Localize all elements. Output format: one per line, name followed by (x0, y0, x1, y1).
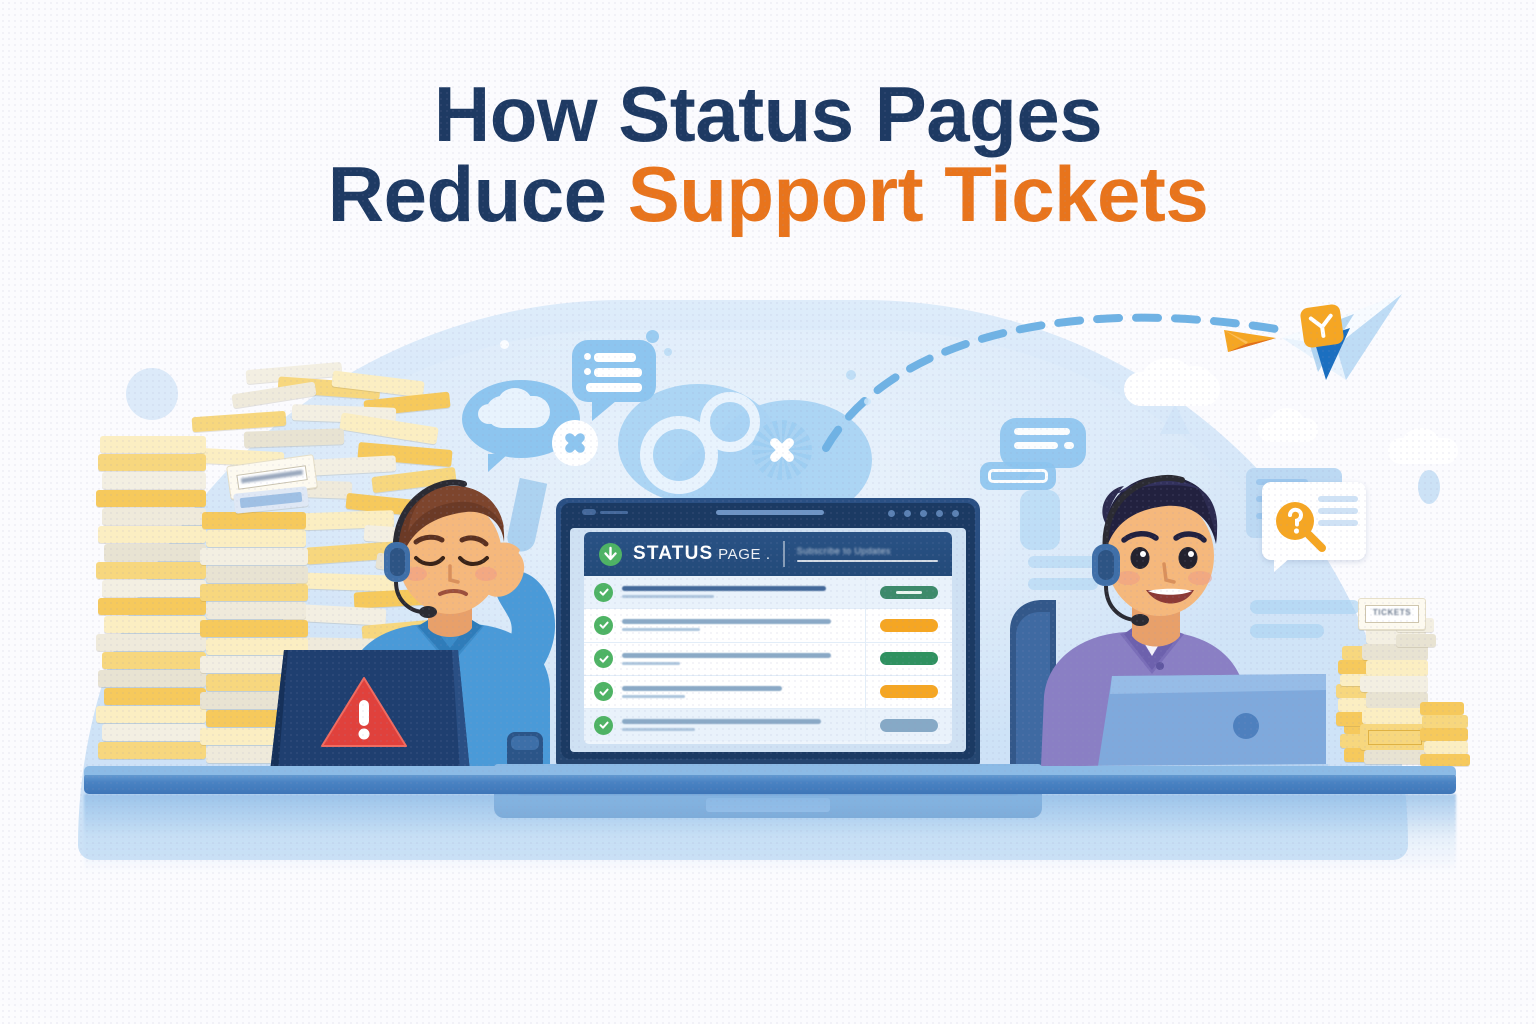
laptop-screen: STATUS PAGE . Subscribe to Updates (570, 528, 966, 752)
check-circle-icon (594, 682, 613, 701)
page-title: How Status Pages Reduce Support Tickets (0, 74, 1536, 235)
status-row-badge-cell (865, 676, 952, 708)
error-x-circle (552, 420, 598, 466)
status-badge (880, 652, 938, 665)
status-page-body (584, 576, 952, 744)
warning-triangle-icon (318, 672, 410, 752)
title-line-2-navy: Reduce (328, 150, 628, 238)
header-underline (797, 560, 938, 562)
cloud-icon-2b (1402, 428, 1440, 460)
title-line-2: Reduce Support Tickets (0, 154, 1536, 234)
status-row-text (622, 619, 865, 631)
title-line-2-orange: Support Tickets (628, 150, 1209, 238)
brand-light: PAGE . (713, 546, 770, 563)
header-divider (783, 541, 785, 567)
check-circle-icon (594, 716, 613, 735)
illustration-canvas: TICKETS (0, 0, 1536, 1024)
tickets-label-text: TICKETS (1369, 608, 1415, 617)
title-line-1: How Status Pages (0, 74, 1536, 154)
tickets-label-box: TICKETS (1358, 598, 1426, 630)
message-list-bubble (572, 340, 656, 402)
x-icon-gear-cloud (760, 428, 804, 472)
status-page-header: STATUS PAGE . Subscribe to Updates (584, 532, 952, 576)
status-row[interactable] (584, 576, 952, 609)
desk-edge-top (84, 766, 1456, 775)
desk-reflection (84, 794, 1456, 872)
status-row-text (622, 719, 865, 731)
paper-plane-icon-small (1222, 318, 1280, 364)
status-badge (880, 586, 938, 599)
status-row[interactable] (584, 609, 952, 642)
gear-icon-small (700, 392, 760, 452)
status-page-brand: STATUS PAGE . (633, 543, 771, 565)
check-circle-icon (594, 583, 613, 602)
download-circle-icon (598, 542, 623, 567)
ticket-stack-right: TICKETS (1336, 584, 1486, 774)
status-row-text (622, 653, 865, 665)
status-badge (880, 719, 938, 732)
status-row[interactable] (584, 676, 952, 709)
status-row-text (622, 586, 865, 598)
status-row-text (622, 686, 865, 698)
check-circle-icon (594, 616, 613, 635)
status-row-badge-cell (865, 609, 952, 641)
bg-balloon-right (1418, 470, 1440, 504)
header-subscribe-text: Subscribe to Updates (797, 546, 938, 556)
paper-plane-badge (1299, 303, 1344, 348)
dashed-trajectory-arc (820, 292, 1300, 452)
status-row-badge-cell (865, 709, 952, 741)
status-row-badge-cell (865, 576, 952, 608)
status-row[interactable] (584, 643, 952, 676)
status-row[interactable] (584, 709, 952, 741)
desk-surface (84, 772, 1456, 794)
status-row-badge-cell (865, 643, 952, 675)
status-badge (880, 619, 938, 632)
check-circle-icon (594, 649, 613, 668)
status-badge (880, 685, 938, 698)
brand-bold: STATUS (633, 543, 713, 564)
browser-chrome-bar (556, 498, 980, 528)
